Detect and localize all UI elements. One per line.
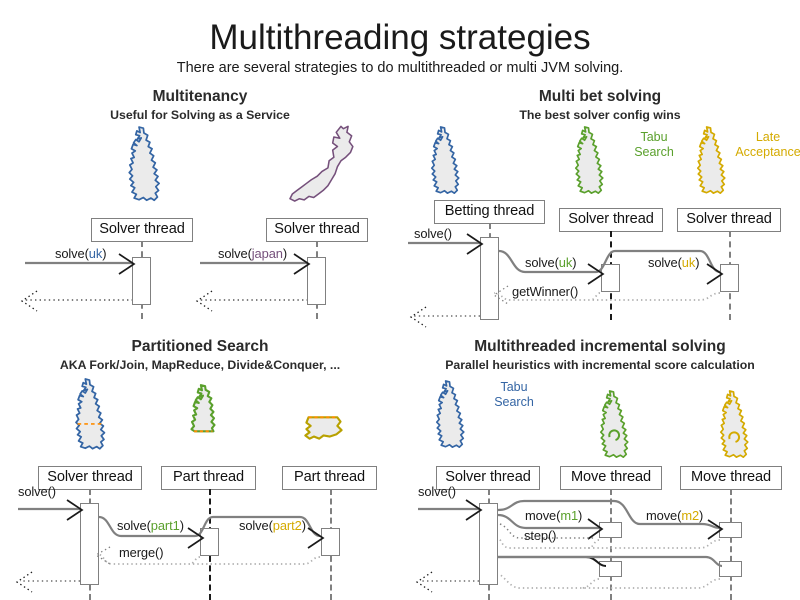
sequence-diagram: Betting thread Solver thread Solver thre… <box>400 88 800 320</box>
sequence-arrows <box>0 88 400 320</box>
page-title: Multithreading strategies <box>0 18 800 58</box>
sequence-arrows <box>0 338 400 600</box>
quadrant-multi-bet-solving: Multi bet solving The best solver config… <box>400 88 800 320</box>
quadrant-multithreaded-incremental-solving: Multithreaded incremental solving Parall… <box>400 338 800 600</box>
slide-root: Multithreading strategies There are seve… <box>0 0 800 600</box>
sequence-diagram: Solver thread Move thread Move thread so… <box>400 338 800 600</box>
quadrant-multitenancy: Multitenancy Useful for Solving as a Ser… <box>0 88 400 320</box>
page-subtitle: There are several strategies to do multi… <box>0 59 800 77</box>
sequence-diagram: Solver thread Part thread Part thread so… <box>0 338 400 600</box>
sequence-arrows <box>400 338 800 600</box>
quadrant-partitioned-search: Partitioned Search AKA Fork/Join, MapRed… <box>0 338 400 600</box>
sequence-diagram: Solver thread solve(uk) Solver thread so… <box>0 88 400 320</box>
sequence-arrows <box>400 88 800 320</box>
